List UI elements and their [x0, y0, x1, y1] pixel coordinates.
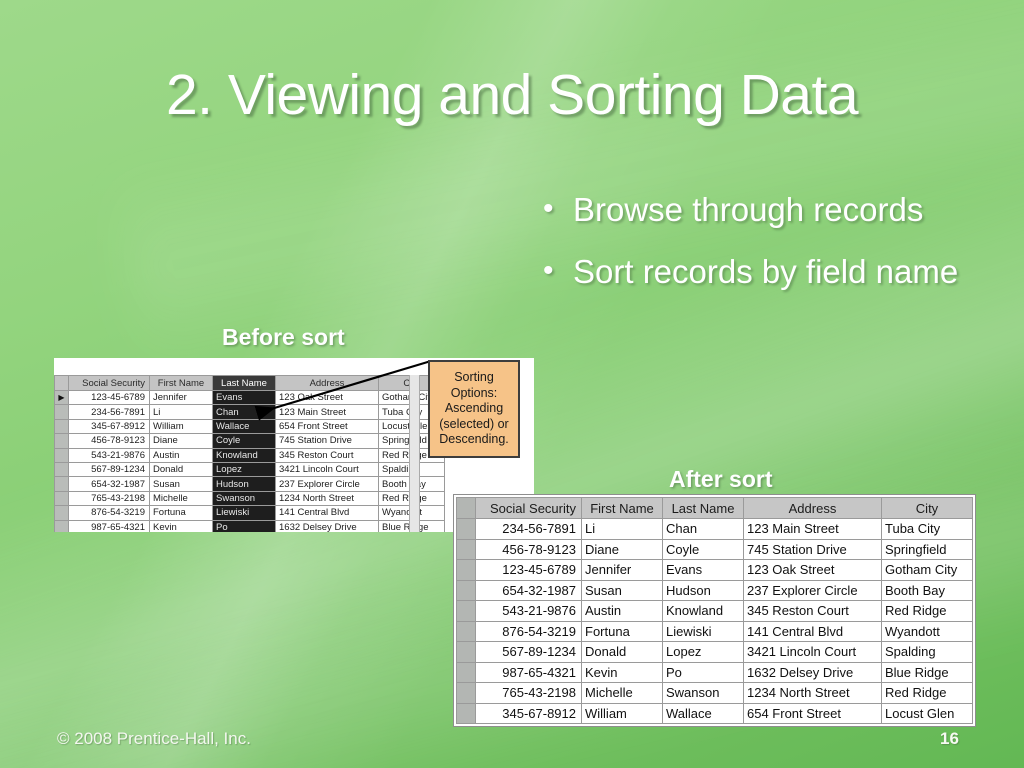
record-selector[interactable]: [457, 703, 476, 724]
cell-last-name[interactable]: Liewiski: [663, 621, 744, 642]
after-sort-label: After sort: [669, 466, 773, 493]
column-header-social-security[interactable]: Social Security: [69, 376, 150, 391]
cell-address[interactable]: 1632 Delsey Drive: [276, 520, 379, 532]
cell-social-security[interactable]: 345-67-8912: [476, 703, 582, 724]
cell-social-security[interactable]: 543-21-9876: [476, 601, 582, 622]
footer-page-number: 16: [940, 729, 959, 749]
cell-last-name[interactable]: Chan: [663, 519, 744, 540]
column-header-social-security[interactable]: Social Security: [476, 498, 582, 519]
cell-first-name[interactable]: Jennifer: [150, 391, 213, 405]
cell-first-name[interactable]: Jennifer: [582, 560, 663, 581]
cell-city[interactable]: Springfield: [882, 539, 973, 560]
cell-first-name[interactable]: Kevin: [150, 520, 213, 532]
vertical-scrollbar[interactable]: [409, 375, 420, 532]
cell-address[interactable]: 123 Oak Street: [276, 391, 379, 405]
cell-social-security[interactable]: 123-45-6789: [69, 391, 150, 405]
before-sort-table-body: ▶123-45-6789JenniferEvans123 Oak StreetG…: [55, 391, 445, 533]
cell-last-name[interactable]: Hudson: [663, 580, 744, 601]
cell-social-security[interactable]: 567-89-1234: [69, 462, 150, 476]
cell-first-name[interactable]: Michelle: [582, 683, 663, 704]
record-selector[interactable]: [457, 621, 476, 642]
footer-copyright: © 2008 Prentice-Hall, Inc.: [57, 729, 251, 749]
cell-address[interactable]: 123 Main Street: [276, 405, 379, 419]
cell-address[interactable]: 745 Station Drive: [276, 434, 379, 448]
bullet-marker-icon: •: [543, 186, 573, 232]
record-selector-header: [457, 498, 476, 519]
bullet-text: Sort records by field name: [573, 248, 973, 296]
cell-last-name[interactable]: Chan: [213, 405, 276, 419]
cell-social-security[interactable]: 543-21-9876: [69, 448, 150, 462]
cell-last-name[interactable]: Coyle: [663, 539, 744, 560]
table-row[interactable]: ▶123-45-6789JenniferEvans123 Oak StreetG…: [55, 391, 445, 405]
record-selector[interactable]: [55, 506, 69, 520]
table-row[interactable]: 234-56-7891LiChan123 Main StreetTuba Cit…: [55, 405, 445, 419]
cell-city[interactable]: Red Ridge: [882, 683, 973, 704]
bullet-item: • Sort records by field name: [543, 248, 973, 296]
cell-first-name[interactable]: Li: [582, 519, 663, 540]
bullet-marker-icon: •: [543, 248, 573, 294]
cell-address[interactable]: 123 Oak Street: [744, 560, 882, 581]
table-row[interactable]: 876-54-3219FortunaLiewiski141 Central Bl…: [457, 621, 973, 642]
table-row[interactable]: 987-65-4321KevinPo1632 Delsey DriveBlue …: [457, 662, 973, 683]
cell-first-name[interactable]: Michelle: [150, 491, 213, 505]
cell-social-security[interactable]: 345-67-8912: [69, 419, 150, 433]
record-selector-header: [55, 376, 69, 391]
column-header-address[interactable]: Address: [276, 376, 379, 391]
cell-first-name[interactable]: Susan: [150, 477, 213, 491]
table-row[interactable]: 987-65-4321KevinPo1632 Delsey DriveBlue …: [55, 520, 445, 532]
cell-address[interactable]: 745 Station Drive: [744, 539, 882, 560]
cell-first-name[interactable]: Austin: [150, 448, 213, 462]
presentation-slide: 2. Viewing and Sorting Data • Browse thr…: [0, 0, 1024, 768]
table-row[interactable]: 654-32-1987SusanHudson237 Explorer Circl…: [457, 580, 973, 601]
cell-address[interactable]: 237 Explorer Circle: [744, 580, 882, 601]
cell-first-name[interactable]: William: [582, 703, 663, 724]
cell-social-security[interactable]: 765-43-2198: [476, 683, 582, 704]
record-selector[interactable]: [55, 520, 69, 532]
column-header-first-name[interactable]: First Name: [150, 376, 213, 391]
cell-social-security[interactable]: 654-32-1987: [476, 580, 582, 601]
cell-social-security[interactable]: 876-54-3219: [476, 621, 582, 642]
table-row[interactable]: 543-21-9876AustinKnowland345 Reston Cour…: [457, 601, 973, 622]
cell-address[interactable]: 123 Main Street: [744, 519, 882, 540]
cell-social-security[interactable]: 456-78-9123: [69, 434, 150, 448]
after-sort-table: Social Security First Name Last Name Add…: [456, 497, 973, 724]
cell-social-security[interactable]: 234-56-7891: [476, 519, 582, 540]
bullet-item: • Browse through records: [543, 186, 973, 234]
cell-last-name[interactable]: Po: [663, 662, 744, 683]
cell-address[interactable]: 141 Central Blvd: [744, 621, 882, 642]
cell-first-name[interactable]: Susan: [582, 580, 663, 601]
cell-first-name[interactable]: Fortuna: [150, 506, 213, 520]
record-selector[interactable]: [457, 560, 476, 581]
table-row[interactable]: 654-32-1987SusanHudson237 Explorer Circl…: [55, 477, 445, 491]
cell-last-name[interactable]: Lopez: [663, 642, 744, 663]
after-sort-table-body: 234-56-7891LiChan123 Main StreetTuba Cit…: [457, 519, 973, 724]
column-header-city[interactable]: City: [882, 498, 973, 519]
table-header-row: Social Security First Name Last Name Add…: [55, 376, 445, 391]
cell-city[interactable]: Spalding: [882, 642, 973, 663]
table-row[interactable]: 765-43-2198MichelleSwanson1234 North Str…: [55, 491, 445, 505]
cell-first-name[interactable]: Donald: [582, 642, 663, 663]
cell-social-security[interactable]: 876-54-3219: [69, 506, 150, 520]
cell-address[interactable]: 345 Reston Court: [744, 601, 882, 622]
table-row[interactable]: 765-43-2198MichelleSwanson1234 North Str…: [457, 683, 973, 704]
cell-address[interactable]: 654 Front Street: [744, 703, 882, 724]
cell-first-name[interactable]: Kevin: [582, 662, 663, 683]
cell-first-name[interactable]: Fortuna: [582, 621, 663, 642]
table-row[interactable]: 567-89-1234DonaldLopez3421 Lincoln Court…: [55, 462, 445, 476]
cell-last-name[interactable]: Coyle: [213, 434, 276, 448]
cell-address[interactable]: 3421 Lincoln Court: [276, 462, 379, 476]
sorting-options-callout-text: Sorting Options: Ascending (selected) or…: [430, 370, 518, 448]
slide-title: 2. Viewing and Sorting Data: [0, 62, 1024, 128]
table-row[interactable]: 456-78-9123DianeCoyle745 Station DriveSp…: [55, 434, 445, 448]
cell-last-name[interactable]: Knowland: [213, 448, 276, 462]
table-row[interactable]: 345-67-8912WilliamWallace654 Front Stree…: [457, 703, 973, 724]
cell-last-name[interactable]: Knowland: [663, 601, 744, 622]
record-selector[interactable]: [55, 477, 69, 491]
bullet-text: Browse through records: [573, 186, 973, 234]
cell-first-name[interactable]: Diane: [150, 434, 213, 448]
cell-first-name[interactable]: William: [150, 419, 213, 433]
cell-last-name[interactable]: Evans: [213, 391, 276, 405]
table-row[interactable]: 543-21-9876AustinKnowland345 Reston Cour…: [55, 448, 445, 462]
record-selector[interactable]: [55, 434, 69, 448]
cell-last-name[interactable]: Wallace: [663, 703, 744, 724]
before-sort-label: Before sort: [222, 324, 345, 351]
cell-last-name[interactable]: Hudson: [213, 477, 276, 491]
column-header-address[interactable]: Address: [744, 498, 882, 519]
column-header-first-name[interactable]: First Name: [582, 498, 663, 519]
record-selector[interactable]: [55, 405, 69, 419]
cell-first-name[interactable]: Donald: [150, 462, 213, 476]
before-sort-datasheet: Social Security First Name Last Name Add…: [54, 375, 409, 532]
table-row[interactable]: 345-67-8912WilliamWallace654 Front Stree…: [55, 419, 445, 433]
cell-social-security[interactable]: 765-43-2198: [69, 491, 150, 505]
record-selector[interactable]: [457, 580, 476, 601]
cell-city[interactable]: Wyandott: [882, 621, 973, 642]
cell-city[interactable]: Gotham City: [882, 560, 973, 581]
record-selector[interactable]: [457, 642, 476, 663]
cell-address[interactable]: 237 Explorer Circle: [276, 477, 379, 491]
bullet-list: • Browse through records • Sort records …: [543, 186, 973, 310]
table-header-row: Social Security First Name Last Name Add…: [457, 498, 973, 519]
column-header-last-name[interactable]: Last Name: [213, 376, 276, 391]
cell-address[interactable]: 141 Central Blvd: [276, 506, 379, 520]
cell-address[interactable]: 654 Front Street: [276, 419, 379, 433]
record-selector[interactable]: [55, 419, 69, 433]
cell-last-name[interactable]: Liewiski: [213, 506, 276, 520]
cell-social-security[interactable]: 567-89-1234: [476, 642, 582, 663]
record-selector[interactable]: [55, 462, 69, 476]
record-selector[interactable]: [55, 491, 69, 505]
cell-last-name[interactable]: Swanson: [663, 683, 744, 704]
cell-city[interactable]: Blue Ridge: [882, 662, 973, 683]
cell-address[interactable]: 3421 Lincoln Court: [744, 642, 882, 663]
table-row[interactable]: 123-45-6789JenniferEvans123 Oak StreetGo…: [457, 560, 973, 581]
cell-city[interactable]: Tuba City: [882, 519, 973, 540]
cell-last-name[interactable]: Evans: [663, 560, 744, 581]
record-selector[interactable]: [457, 539, 476, 560]
cell-address[interactable]: 1234 North Street: [276, 491, 379, 505]
cell-address[interactable]: 1632 Delsey Drive: [744, 662, 882, 683]
cell-address[interactable]: 1234 North Street: [744, 683, 882, 704]
cell-social-security[interactable]: 654-32-1987: [69, 477, 150, 491]
table-row[interactable]: 234-56-7891LiChan123 Main StreetTuba Cit…: [457, 519, 973, 540]
cell-social-security[interactable]: 987-65-4321: [69, 520, 150, 532]
cell-social-security[interactable]: 987-65-4321: [476, 662, 582, 683]
cell-last-name[interactable]: Po: [213, 520, 276, 532]
record-selector[interactable]: ▶: [55, 391, 69, 405]
record-selector[interactable]: [55, 448, 69, 462]
cell-city[interactable]: Red Ridge: [882, 601, 973, 622]
cell-first-name[interactable]: Austin: [582, 601, 663, 622]
record-selector[interactable]: [457, 683, 476, 704]
table-row[interactable]: 567-89-1234DonaldLopez3421 Lincoln Court…: [457, 642, 973, 663]
table-row[interactable]: 876-54-3219FortunaLiewiski141 Central Bl…: [55, 506, 445, 520]
cell-social-security[interactable]: 456-78-9123: [476, 539, 582, 560]
cell-city[interactable]: Booth Bay: [882, 580, 973, 601]
sorting-options-callout: Sorting Options: Ascending (selected) or…: [428, 360, 520, 458]
cell-last-name[interactable]: Lopez: [213, 462, 276, 476]
cell-city[interactable]: Locust Glen: [882, 703, 973, 724]
before-sort-table: Social Security First Name Last Name Add…: [54, 375, 445, 532]
cell-last-name[interactable]: Wallace: [213, 419, 276, 433]
cell-first-name[interactable]: Diane: [582, 539, 663, 560]
cell-social-security[interactable]: 234-56-7891: [69, 405, 150, 419]
after-sort-screenshot: Social Security First Name Last Name Add…: [453, 494, 976, 727]
record-selector[interactable]: [457, 519, 476, 540]
table-row[interactable]: 456-78-9123DianeCoyle745 Station DriveSp…: [457, 539, 973, 560]
cell-social-security[interactable]: 123-45-6789: [476, 560, 582, 581]
cell-address[interactable]: 345 Reston Court: [276, 448, 379, 462]
column-header-last-name[interactable]: Last Name: [663, 498, 744, 519]
cell-last-name[interactable]: Swanson: [213, 491, 276, 505]
cell-first-name[interactable]: Li: [150, 405, 213, 419]
record-selector[interactable]: [457, 601, 476, 622]
record-selector[interactable]: [457, 662, 476, 683]
